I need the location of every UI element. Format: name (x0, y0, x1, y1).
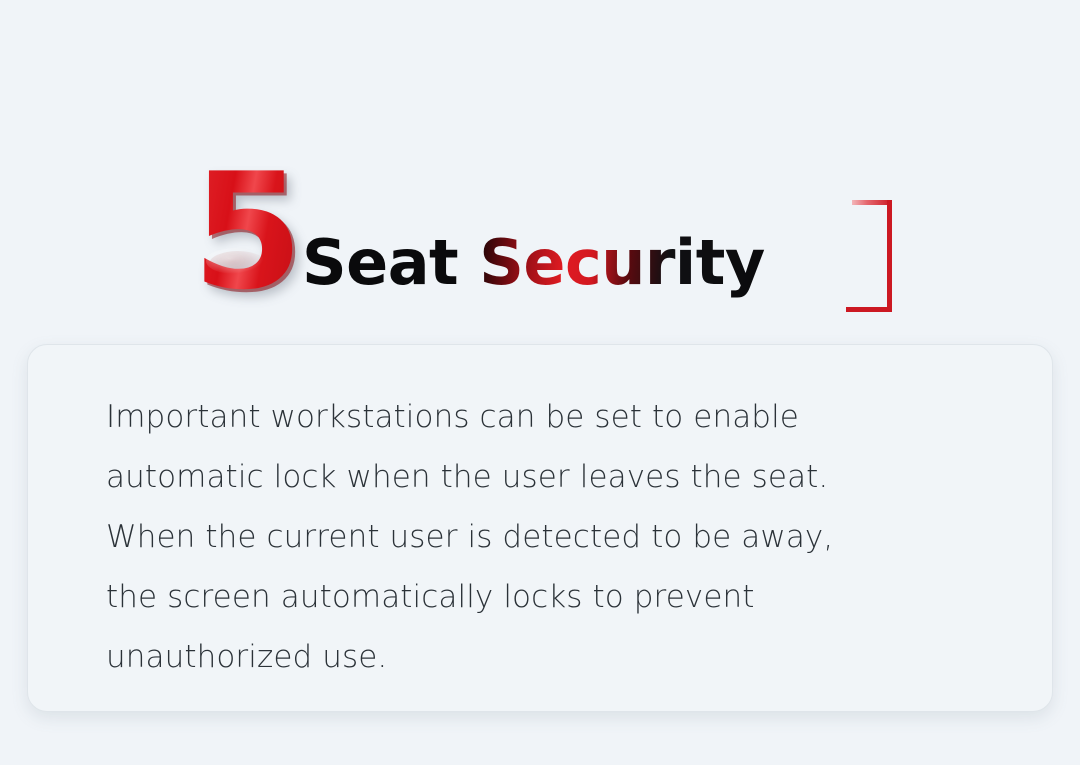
heading-row: 5 Seat Security (0, 150, 1080, 330)
page-title-accent: Security (479, 226, 764, 299)
page-title-plain: Seat (302, 226, 479, 299)
slide-root: 5 Seat Security Important workstations c… (0, 0, 1080, 765)
page-title: Seat Security (302, 226, 765, 300)
description-card: Important workstations can be set to ena… (27, 344, 1053, 712)
bracket-top-stroke (852, 200, 892, 205)
right-bracket-decoration (846, 200, 892, 312)
bracket-right-stroke (887, 200, 892, 312)
bracket-bottom-stroke (846, 307, 892, 312)
section-number-badge: 5 (192, 152, 312, 312)
description-paragraph: Important workstations can be set to ena… (106, 387, 1036, 687)
